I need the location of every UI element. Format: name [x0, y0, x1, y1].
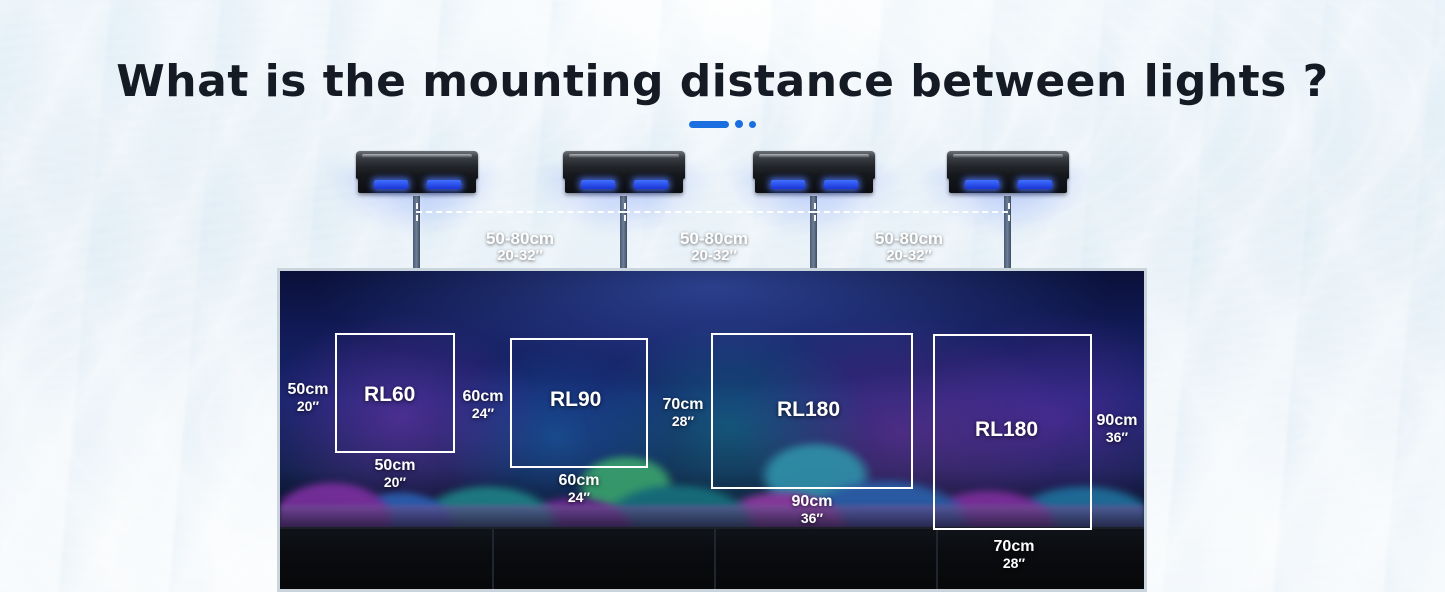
measure-metric: 90cm [769, 493, 855, 511]
fixture-led-panel [949, 175, 1067, 193]
spacing-metric: 50-80cm [829, 229, 989, 248]
led-light-fixture-4 [947, 151, 1069, 195]
spacing-tick-1 [416, 203, 418, 221]
cabinet-divider [714, 529, 716, 589]
led-light-fixture-2 [563, 151, 685, 195]
measure-metric: 90cm [1092, 412, 1142, 430]
coverage-model-label-rl180-b: RL180 [975, 418, 1038, 442]
spacing-imperial: 20-32″ [634, 248, 794, 265]
measure-metric: 60cm [536, 472, 622, 490]
pagination-dot-3[interactable] [749, 121, 756, 128]
fixture-led-panel [358, 175, 476, 193]
coverage-left-measure-rl180-a: 70cm 28″ [658, 396, 708, 430]
measure-metric: 50cm [352, 457, 438, 475]
spacing-tick-2 [624, 203, 626, 221]
coverage-bottom-measure-rl90: 60cm 24″ [536, 472, 622, 506]
spacing-metric: 50-80cm [440, 229, 600, 248]
measure-imperial: 36″ [1092, 430, 1142, 446]
pagination-active-bar[interactable] [689, 121, 729, 128]
fixture-led-panel [565, 175, 683, 193]
spacing-label-2: 50-80cm 20-32″ [634, 229, 794, 265]
led-module-icon [824, 180, 858, 189]
spacing-tick-3 [814, 203, 816, 221]
coverage-bottom-measure-rl180-b: 70cm 28″ [971, 538, 1057, 572]
coverage-model-label-rl60: RL60 [364, 383, 415, 407]
led-module-icon [374, 180, 408, 189]
measure-imperial: 24″ [536, 490, 622, 506]
measure-imperial: 36″ [769, 511, 855, 527]
fixture-led-panel [755, 175, 873, 193]
measure-imperial: 20″ [286, 399, 330, 415]
spacing-imperial: 20-32″ [440, 248, 600, 265]
coverage-bottom-measure-rl180-a: 90cm 36″ [769, 493, 855, 527]
page-title: What is the mounting distance between li… [0, 56, 1445, 107]
cabinet-divider [936, 529, 938, 589]
carousel-pagination[interactable] [0, 120, 1445, 128]
spacing-metric: 50-80cm [634, 229, 794, 248]
spacing-dimension-line-2 [624, 211, 814, 213]
spacing-imperial: 20-32″ [829, 248, 989, 265]
measure-imperial: 28″ [971, 556, 1057, 572]
led-light-fixture-1 [356, 151, 478, 195]
led-module-icon [581, 180, 615, 189]
spacing-dimension-line-3 [814, 211, 1008, 213]
cabinet-divider [492, 529, 494, 589]
coverage-left-measure-rl60: 50cm 20″ [286, 381, 330, 415]
measure-metric: 60cm [458, 388, 508, 406]
coverage-model-label-rl90: RL90 [550, 388, 601, 412]
measure-metric: 70cm [658, 396, 708, 414]
measure-metric: 70cm [971, 538, 1057, 556]
coverage-bottom-measure-rl60: 50cm 20″ [352, 457, 438, 491]
led-module-icon [965, 180, 999, 189]
spacing-label-3: 50-80cm 20-32″ [829, 229, 989, 265]
measure-metric: 50cm [286, 381, 330, 399]
spacing-tick-4 [1008, 203, 1010, 221]
led-module-icon [771, 180, 805, 189]
diagram-root: What is the mounting distance between li… [0, 0, 1445, 592]
pagination-dot-2[interactable] [735, 120, 743, 128]
coverage-model-label-rl180-a: RL180 [777, 398, 840, 422]
led-module-icon [634, 180, 668, 189]
spacing-label-1: 50-80cm 20-32″ [440, 229, 600, 265]
measure-imperial: 24″ [458, 406, 508, 422]
measure-imperial: 28″ [658, 414, 708, 430]
coverage-left-measure-rl90: 60cm 24″ [458, 388, 508, 422]
spacing-dimension-line-1 [416, 211, 624, 213]
led-light-fixture-3 [753, 151, 875, 195]
led-module-icon [1018, 180, 1052, 189]
led-module-icon [427, 180, 461, 189]
coverage-right-measure-rl180-b: 90cm 36″ [1092, 412, 1142, 446]
measure-imperial: 20″ [352, 475, 438, 491]
